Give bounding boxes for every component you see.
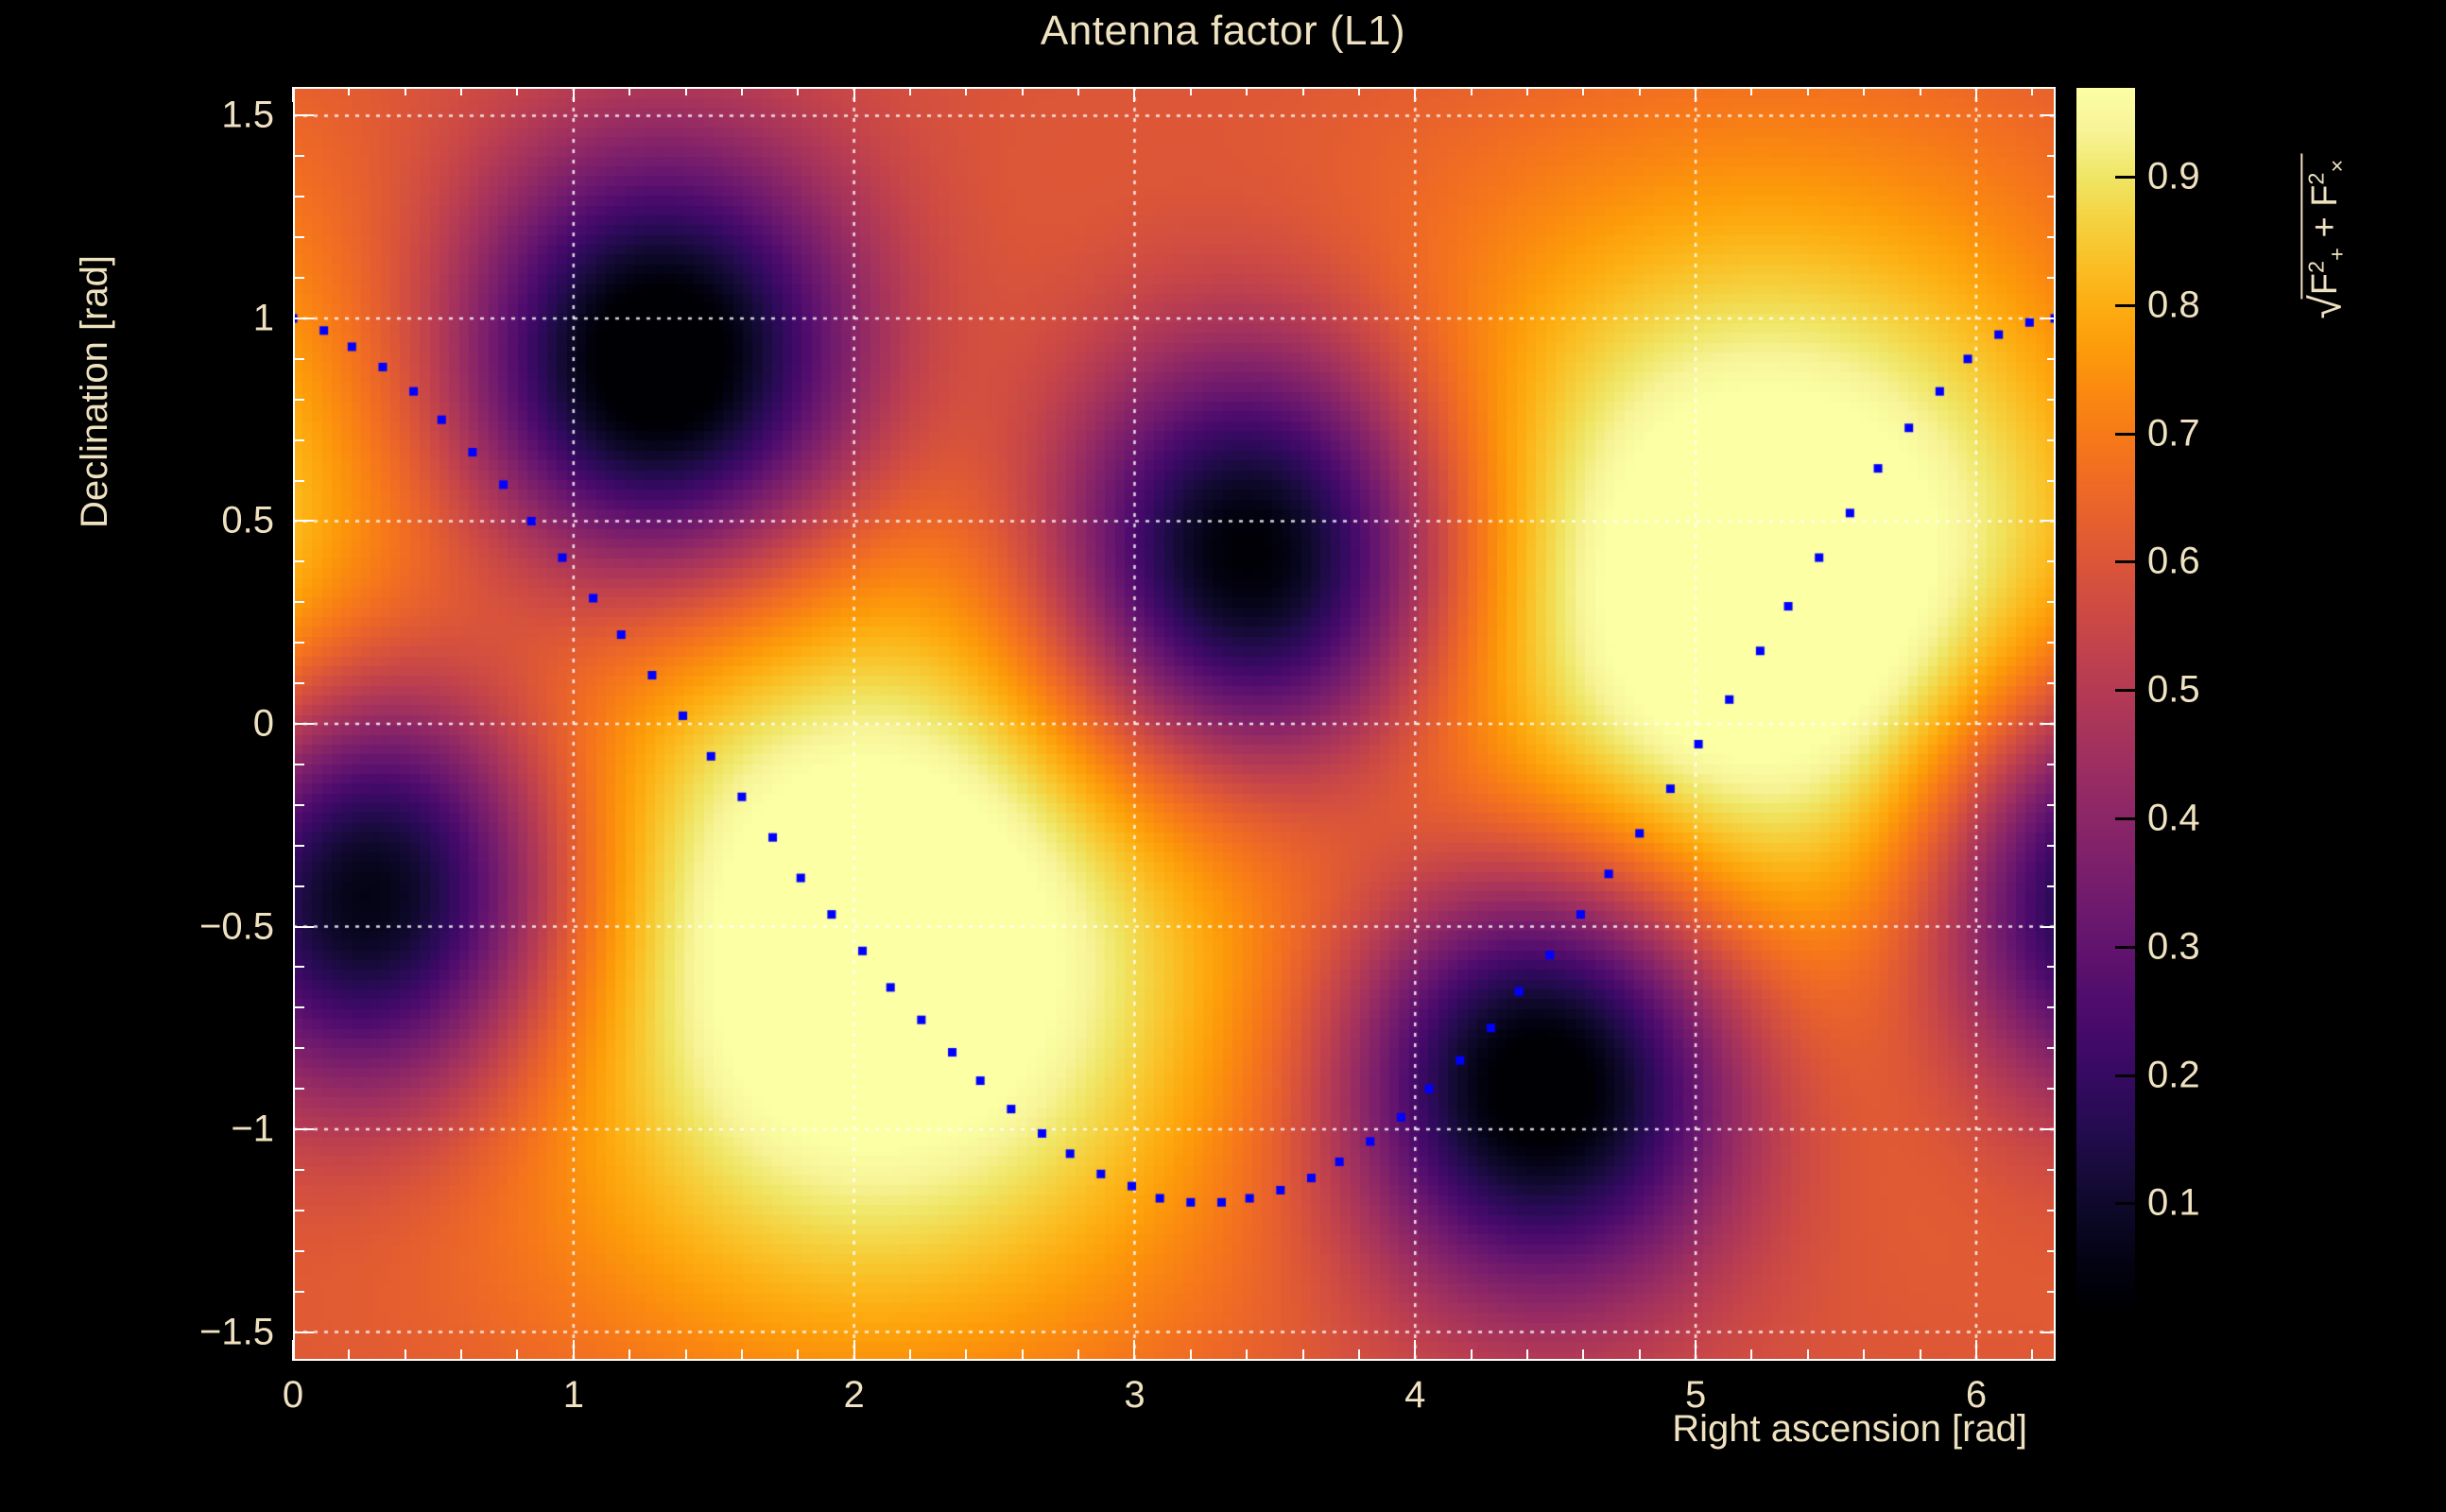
y-tick-major-1 (293, 318, 314, 319)
y-tick-minor-right (2047, 480, 2056, 482)
x-tick-minor-top (909, 87, 911, 95)
y-tick-minor (293, 196, 304, 198)
y-tick-major-right-1 (2041, 318, 2056, 319)
colorbar-tick-label-7: 0.2 (2147, 1054, 2200, 1096)
colorbar-title-text: √ F2+ + F2× (2300, 154, 2350, 319)
y-tick-minor-right (2047, 1006, 2056, 1008)
heatmap-plot-area[interactable] (293, 87, 2056, 1361)
f-plus-subscript: + (2324, 248, 2349, 261)
x-tick-minor-top (1863, 87, 1865, 95)
x-tick-minor-top (1302, 87, 1304, 95)
y-tick-minor (293, 236, 304, 238)
colorbar-tick-3 (2115, 560, 2136, 563)
x-tick-minor (1639, 1349, 1641, 1361)
y-tick-minor (293, 1006, 304, 1008)
y-tick-minor-right (2047, 277, 2056, 279)
x-tick-major-0 (292, 1340, 294, 1361)
x-tick-major-top-1 (573, 87, 575, 102)
y-tick-major-3 (293, 723, 314, 725)
y-tick-major-right-5 (2041, 1128, 2056, 1130)
x-tick-minor (909, 1349, 911, 1361)
colorbar-tick-5 (2115, 817, 2136, 820)
colorbar-tick-label-1: 0.8 (2147, 283, 2200, 326)
x-tick-minor-top (2031, 87, 2033, 95)
x-tick-minor (1358, 1349, 1360, 1361)
y-tick-minor (293, 1169, 304, 1171)
colorbar-tick-6 (2115, 946, 2136, 949)
x-tick-minor-top (1022, 87, 1024, 95)
x-tick-minor (965, 1349, 967, 1361)
x-tick-minor-top (797, 87, 799, 95)
y-tick-minor-right (2047, 399, 2056, 401)
colorbar-tick-4 (2115, 689, 2136, 692)
x-tick-minor (1246, 1349, 1248, 1361)
y-tick-major-6 (293, 1332, 314, 1333)
y-tick-minor-right (2047, 601, 2056, 603)
colorbar[interactable] (2076, 87, 2136, 1306)
colorbar-tick-0 (2115, 176, 2136, 179)
x-tick-minor (1750, 1349, 1752, 1361)
colorbar-tick-label-0: 0.9 (2147, 156, 2200, 198)
x-tick-minor-top (405, 87, 406, 95)
y-tick-minor (293, 155, 304, 157)
x-tick-minor (516, 1349, 518, 1361)
colorbar-border (2076, 87, 2136, 1306)
x-tick-major-top-2 (853, 87, 855, 102)
y-tick-label-2: 0.5 (113, 500, 274, 542)
y-tick-minor (293, 804, 304, 806)
x-axis-title: Right ascension [rad] (0, 1408, 2056, 1451)
y-tick-minor-right (2047, 1250, 2056, 1252)
y-tick-minor-right (2047, 1210, 2056, 1211)
f-cross-subscript: × (2324, 160, 2349, 173)
y-tick-minor-right (2047, 560, 2056, 562)
y-tick-minor (293, 966, 304, 968)
x-tick-minor (460, 1349, 462, 1361)
y-tick-minor-right (2047, 804, 2056, 806)
colorbar-tick-8 (2115, 1202, 2136, 1205)
x-tick-minor (405, 1349, 406, 1361)
y-tick-minor (293, 399, 304, 401)
x-tick-major-top-5 (1695, 87, 1697, 102)
x-tick-major-top-6 (1975, 87, 1977, 102)
y-tick-major-0 (293, 114, 314, 116)
y-tick-minor (293, 439, 304, 441)
colorbar-tick-label-3: 0.6 (2147, 541, 2200, 583)
x-tick-minor (1863, 1349, 1865, 1361)
y-tick-major-5 (293, 1128, 314, 1130)
x-tick-minor (1526, 1349, 1528, 1361)
y-tick-minor-right (2047, 966, 2056, 968)
x-tick-minor-top (741, 87, 743, 95)
x-tick-minor-top (1920, 87, 1921, 95)
x-tick-minor-top (516, 87, 518, 95)
y-tick-label-6: −1.5 (113, 1311, 274, 1353)
x-tick-major-4 (1414, 1340, 1416, 1361)
x-tick-minor-top (1246, 87, 1248, 95)
y-tick-major-right-4 (2041, 926, 2056, 928)
x-tick-minor (797, 1349, 799, 1361)
f-plus-exponent: 2 (2303, 261, 2328, 273)
grid-and-source-track-overlay (293, 87, 2056, 1361)
y-tick-minor (293, 764, 304, 765)
y-tick-minor (293, 358, 304, 360)
y-tick-major-right-2 (2041, 520, 2056, 522)
y-tick-minor (293, 682, 304, 684)
f-cross-symbol: F (2305, 184, 2345, 206)
colorbar-title: √ F2+ + F2× (2268, 94, 2382, 378)
plus-operator: + (2305, 216, 2345, 237)
y-tick-minor-right (2047, 764, 2056, 765)
colorbar-tick-label-4: 0.5 (2147, 669, 2200, 712)
y-axis-title: Declination [rad] (74, 87, 117, 1361)
y-tick-minor (293, 560, 304, 562)
y-tick-label-4: −0.5 (113, 905, 274, 948)
y-tick-label-0: 1.5 (113, 94, 274, 137)
y-tick-major-right-3 (2041, 723, 2056, 725)
y-tick-minor (293, 845, 304, 847)
y-tick-label-1: 1 (113, 297, 274, 339)
x-tick-major-1 (573, 1340, 575, 1361)
y-tick-major-right-6 (2041, 1332, 2056, 1333)
y-tick-minor-right (2047, 682, 2056, 684)
x-tick-minor-top (1526, 87, 1528, 95)
x-tick-minor (348, 1349, 350, 1361)
x-tick-major-top-4 (1414, 87, 1416, 102)
y-tick-label-3: 0 (113, 703, 274, 746)
colorbar-tick-label-2: 0.7 (2147, 412, 2200, 455)
x-tick-minor (2031, 1349, 2033, 1361)
x-tick-minor-top (1750, 87, 1752, 95)
colorbar-tick-label-6: 0.3 (2147, 925, 2200, 968)
x-tick-major-5 (1695, 1340, 1697, 1361)
x-tick-major-6 (1975, 1340, 1977, 1361)
y-tick-minor-right (2047, 1169, 2056, 1171)
x-tick-minor-top (1582, 87, 1584, 95)
x-tick-minor-top (629, 87, 630, 95)
y-tick-minor-right (2047, 1291, 2056, 1293)
y-tick-minor (293, 642, 304, 644)
plot-canvas: Antenna factor (L1) 01234561.510.50−0.5−… (0, 0, 2446, 1512)
y-tick-minor-right (2047, 845, 2056, 847)
x-tick-minor (685, 1349, 687, 1361)
y-tick-minor (293, 1291, 304, 1293)
y-tick-major-4 (293, 926, 314, 928)
x-tick-minor (1190, 1349, 1192, 1361)
x-tick-major-3 (1133, 1340, 1135, 1361)
x-tick-minor-top (685, 87, 687, 95)
x-tick-minor-top (1471, 87, 1473, 95)
y-tick-minor-right (2047, 439, 2056, 441)
x-tick-minor (1077, 1349, 1079, 1361)
x-tick-minor (1807, 1349, 1809, 1361)
x-tick-minor-top (965, 87, 967, 95)
x-tick-minor-top (460, 87, 462, 95)
y-tick-minor-right (2047, 885, 2056, 887)
x-tick-minor (741, 1349, 743, 1361)
y-tick-minor (293, 1047, 304, 1049)
y-tick-major-2 (293, 520, 314, 522)
f-plus-symbol: F (2305, 273, 2345, 295)
colorbar-tick-7 (2115, 1074, 2136, 1077)
x-tick-major-top-3 (1133, 87, 1135, 102)
y-tick-minor (293, 885, 304, 887)
y-tick-minor-right (2047, 196, 2056, 198)
x-tick-major-2 (853, 1340, 855, 1361)
page-title: Antenna factor (L1) (0, 8, 2446, 55)
colorbar-tick-2 (2115, 433, 2136, 436)
f-cross-exponent: 2 (2303, 172, 2328, 184)
x-tick-major-top-0 (292, 87, 294, 102)
x-tick-minor (1022, 1349, 1024, 1361)
y-tick-label-5: −1 (113, 1108, 274, 1151)
y-tick-minor-right (2047, 358, 2056, 360)
y-tick-minor (293, 277, 304, 279)
y-tick-major-right-0 (2041, 114, 2056, 116)
y-tick-minor-right (2047, 236, 2056, 238)
y-tick-minor-right (2047, 642, 2056, 644)
x-tick-minor (629, 1349, 630, 1361)
x-tick-minor-top (1358, 87, 1360, 95)
colorbar-tick-label-5: 0.4 (2147, 798, 2200, 840)
y-tick-minor (293, 1250, 304, 1252)
y-tick-minor-right (2047, 155, 2056, 157)
x-tick-minor (1582, 1349, 1584, 1361)
x-tick-minor (1471, 1349, 1473, 1361)
colorbar-tick-label-8: 0.1 (2147, 1182, 2200, 1225)
y-tick-minor-right (2047, 1088, 2056, 1090)
y-tick-minor (293, 601, 304, 603)
x-tick-minor (1920, 1349, 1921, 1361)
x-tick-minor-top (348, 87, 350, 95)
y-tick-minor-right (2047, 1047, 2056, 1049)
y-axis-title-text: Declination [rad] (75, 255, 117, 528)
x-tick-minor-top (1077, 87, 1079, 95)
x-tick-minor-top (1190, 87, 1192, 95)
y-tick-minor (293, 480, 304, 482)
colorbar-tick-1 (2115, 304, 2136, 307)
x-tick-minor (1302, 1349, 1304, 1361)
x-tick-minor-top (1639, 87, 1641, 95)
y-tick-minor (293, 1088, 304, 1090)
x-tick-minor-top (1807, 87, 1809, 95)
y-tick-minor (293, 1210, 304, 1211)
